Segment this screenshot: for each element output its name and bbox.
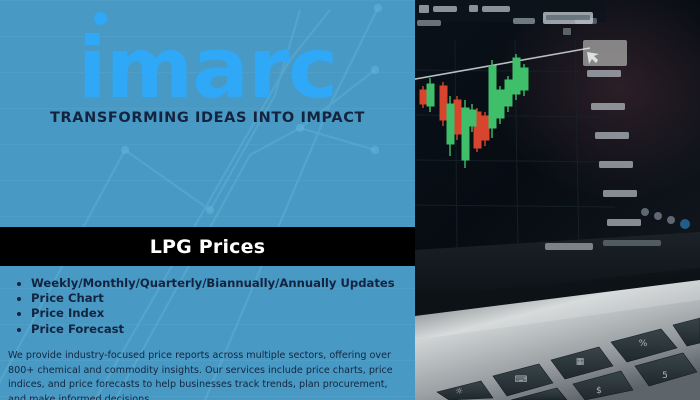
list-item: Price Forecast bbox=[14, 322, 409, 337]
left-branding-panel: imarc TRANSFORMING IDEAS INTO IMPACT LPG… bbox=[0, 0, 415, 400]
brand-logo: imarc TRANSFORMING IDEAS INTO IMPACT bbox=[0, 34, 415, 126]
list-item: Price Chart bbox=[14, 291, 409, 306]
laptop-trading-chart-photo: ☼ ⌨ ▦ $ % 5 bbox=[415, 0, 700, 400]
list-item: Weekly/Monthly/Quarterly/Biannually/Annu… bbox=[14, 276, 409, 291]
logo-mark: imarc bbox=[78, 34, 337, 103]
photo-illustration: ☼ ⌨ ▦ $ % 5 bbox=[415, 0, 700, 400]
lpg-prices-poster: imarc TRANSFORMING IDEAS INTO IMPACT LPG… bbox=[0, 0, 700, 400]
svg-text:%: % bbox=[639, 339, 648, 349]
svg-text:⌨: ⌨ bbox=[515, 375, 528, 385]
list-item: Price Index bbox=[14, 306, 409, 321]
title-banner: LPG Prices bbox=[0, 227, 415, 266]
svg-text:☼: ☼ bbox=[455, 387, 463, 397]
description-paragraph: We provide industry-focused price report… bbox=[8, 349, 408, 400]
logo-dot-icon bbox=[94, 12, 107, 25]
svg-text:$: $ bbox=[596, 386, 602, 396]
logo-wordmark: imarc bbox=[78, 34, 337, 103]
page-title: LPG Prices bbox=[150, 236, 266, 258]
feature-list: Weekly/Monthly/Quarterly/Biannually/Annu… bbox=[14, 276, 409, 337]
svg-text:5: 5 bbox=[662, 371, 668, 381]
svg-text:▦: ▦ bbox=[576, 357, 585, 367]
